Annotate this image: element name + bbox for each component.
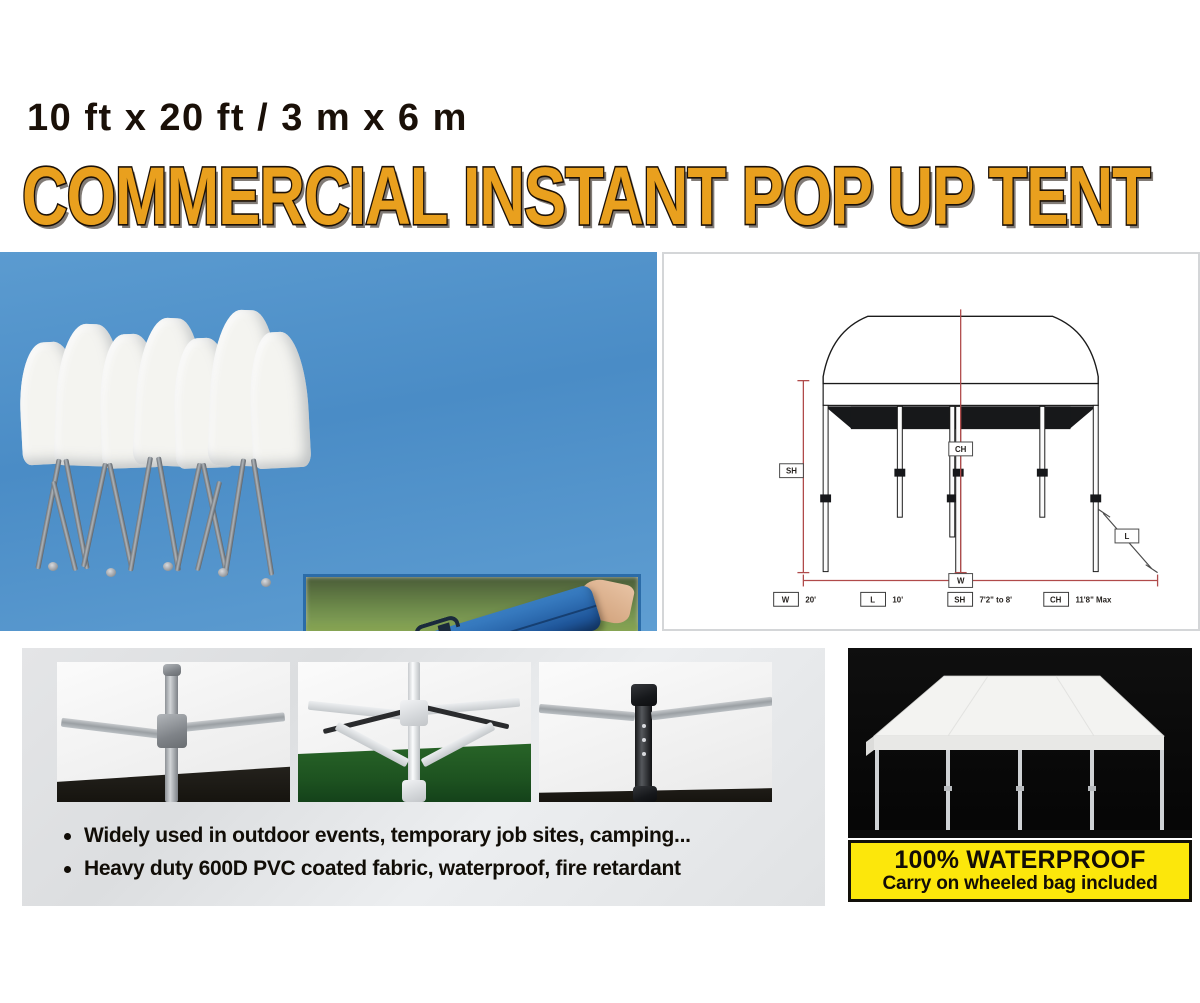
- legend-code-ch: CH: [1050, 595, 1062, 604]
- waterproof-banner: 100% WATERPROOF Carry on wheeled bag inc…: [848, 840, 1192, 902]
- feature-bullet-text: Heavy duty 600D PVC coated fabric, water…: [84, 857, 681, 881]
- legend-code-l: L: [870, 595, 875, 604]
- leg-adjuster-detail: [539, 662, 772, 802]
- list-item: Heavy duty 600D PVC coated fabric, water…: [64, 857, 809, 881]
- erected-tent-photo: [848, 648, 1192, 838]
- legend-value-sh: 7'2" to 8': [979, 595, 1012, 604]
- feature-bullet-text: Widely used in outdoor events, temporary…: [84, 824, 691, 848]
- callout-w: W: [957, 576, 965, 585]
- tent-dimension-diagram: SH CH W L W 20' L 10': [662, 252, 1200, 631]
- page-title: COMMERCIAL INSTANT POP UP TENT: [22, 150, 1150, 244]
- legend-value-l: 10': [892, 595, 903, 604]
- legend-code-sh: SH: [954, 595, 965, 604]
- frame-hub-detail: [57, 662, 290, 802]
- erected-tent-svg: [848, 648, 1192, 838]
- callout-sh: SH: [786, 467, 797, 476]
- features-panel: Widely used in outdoor events, temporary…: [22, 648, 825, 906]
- callout-l: L: [1124, 532, 1129, 541]
- page-subtitle: 10 ft x 20 ft / 3 m x 6 m: [27, 97, 468, 140]
- feature-bullet-list: Widely used in outdoor events, temporary…: [64, 824, 809, 891]
- detail-photo-strip: [57, 662, 797, 802]
- waterproof-headline: 100% WATERPROOF: [894, 847, 1145, 873]
- callout-ch: CH: [955, 445, 967, 454]
- dimension-diagram-svg: SH CH W L W 20' L 10': [664, 254, 1198, 629]
- legend-value-ch: 11'8" Max: [1075, 595, 1112, 604]
- carry-bag-photo: [303, 574, 641, 631]
- waterproof-subline: Carry on wheeled bag included: [882, 873, 1157, 895]
- legend-code-w: W: [782, 595, 790, 604]
- folded-tent-illustration: [18, 290, 318, 590]
- product-advertisement-page: 10 ft x 20 ft / 3 m x 6 m COMMERCIAL INS…: [0, 0, 1200, 1003]
- legend-value-w: 20': [805, 595, 816, 604]
- header: 10 ft x 20 ft / 3 m x 6 m COMMERCIAL INS…: [0, 0, 1200, 240]
- bullet-dot-icon: [64, 833, 71, 840]
- bullet-dot-icon: [64, 866, 71, 873]
- list-item: Widely used in outdoor events, temporary…: [64, 824, 809, 848]
- frame-underside-detail: [298, 662, 531, 802]
- folded-tent-frame-photo: Carry on wheeled bag included: [0, 252, 657, 631]
